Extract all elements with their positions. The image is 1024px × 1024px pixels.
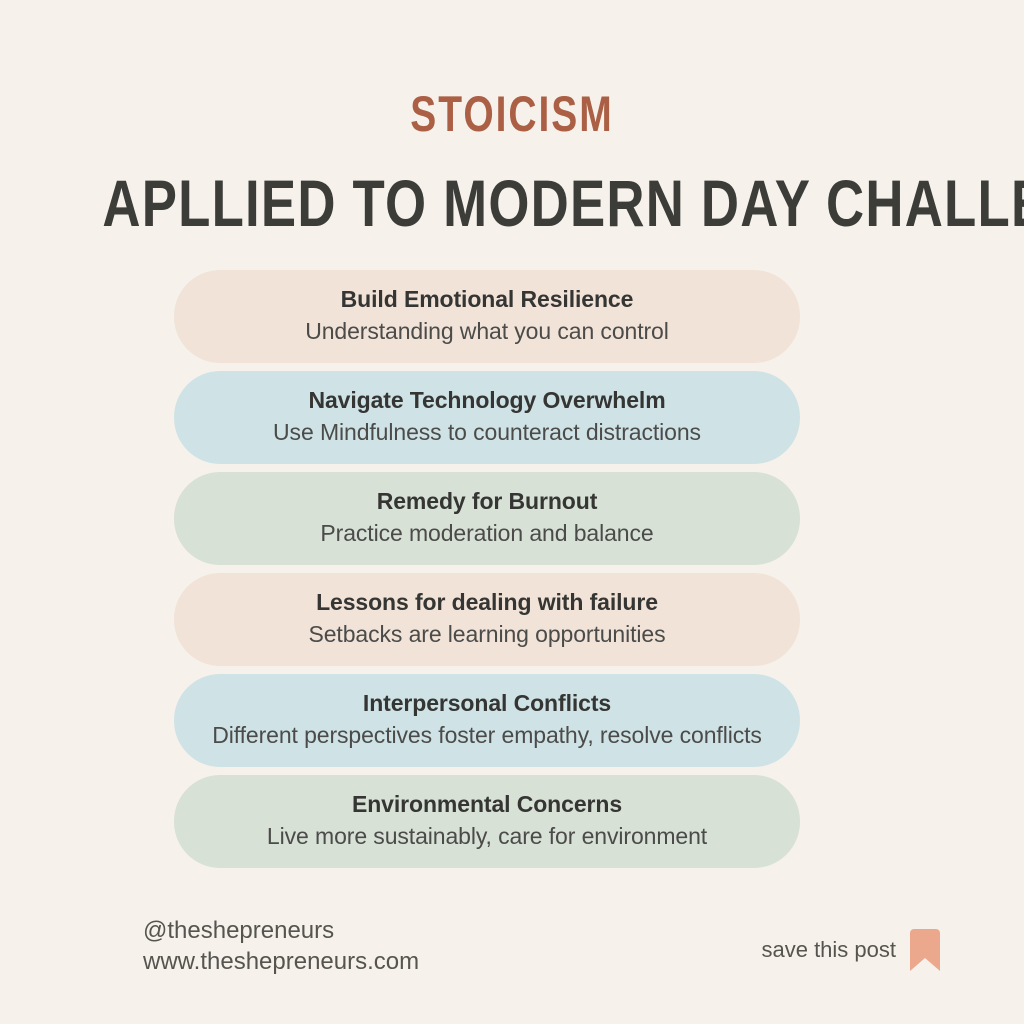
challenge-pill-subtitle: Setbacks are learning opportunities <box>208 619 766 650</box>
title-block: STOICISM APLLIED TO MODERN DAY CHALLENGE… <box>0 86 1024 240</box>
challenge-pill-subtitle: Practice moderation and balance <box>208 518 766 549</box>
social-handle: @theshepreneurs <box>143 915 419 946</box>
challenge-pill-heading: Lessons for dealing with failure <box>208 587 766 618</box>
bookmark-icon[interactable] <box>910 929 940 971</box>
challenge-pill: Interpersonal ConflictsDifferent perspec… <box>174 674 800 767</box>
save-label: save this post <box>761 937 896 963</box>
challenge-pill: Navigate Technology OverwhelmUse Mindful… <box>174 371 800 464</box>
challenge-pill-heading: Navigate Technology Overwhelm <box>208 385 766 416</box>
page-title-primary: STOICISM <box>113 86 912 142</box>
challenge-pill-heading: Build Emotional Resilience <box>208 284 766 315</box>
save-this-post[interactable]: save this post <box>761 929 940 971</box>
challenge-pill-subtitle: Understanding what you can control <box>208 316 766 347</box>
brand-block: @theshepreneurs www.theshepreneurs.com <box>143 915 419 977</box>
challenge-list: Build Emotional ResilienceUnderstanding … <box>174 270 800 868</box>
challenge-pill: Environmental ConcernsLive more sustaina… <box>174 775 800 868</box>
challenge-pill: Lessons for dealing with failureSetbacks… <box>174 573 800 666</box>
challenge-pill-subtitle: Different perspectives foster empathy, r… <box>208 720 766 751</box>
footer: @theshepreneurs www.theshepreneurs.com s… <box>143 915 940 985</box>
challenge-pill: Build Emotional ResilienceUnderstanding … <box>174 270 800 363</box>
website-url: www.theshepreneurs.com <box>143 946 419 977</box>
page-title-secondary: APLLIED TO MODERN DAY CHALLENGES <box>102 166 921 240</box>
challenge-pill: Remedy for BurnoutPractice moderation an… <box>174 472 800 565</box>
challenge-pill-subtitle: Live more sustainably, care for environm… <box>208 821 766 852</box>
poster-canvas: STOICISM APLLIED TO MODERN DAY CHALLENGE… <box>0 0 1024 1024</box>
challenge-pill-heading: Environmental Concerns <box>208 789 766 820</box>
challenge-pill-heading: Remedy for Burnout <box>208 486 766 517</box>
challenge-pill-subtitle: Use Mindfulness to counteract distractio… <box>208 417 766 448</box>
challenge-pill-heading: Interpersonal Conflicts <box>208 688 766 719</box>
